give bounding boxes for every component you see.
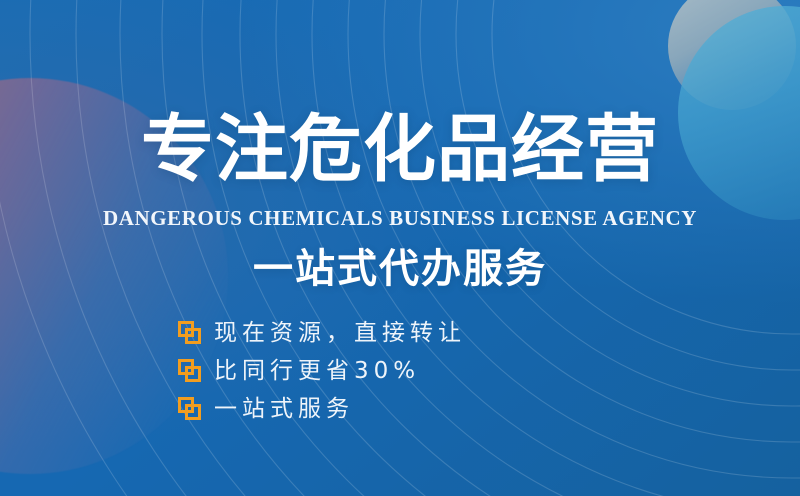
list-item-label: 比同行更省30%: [214, 356, 420, 386]
page-title: 专注危化品经营: [0, 108, 800, 192]
double-square-icon: [178, 359, 202, 383]
subtitle-chinese: 一站式代办服务: [0, 243, 800, 295]
double-square-icon: [178, 397, 202, 421]
subtitle-english: DANGEROUS CHEMICALS BUSINESS LICENSE AGE…: [0, 206, 800, 231]
list-item-label: 一站式服务: [214, 394, 354, 424]
promo-banner: 专注危化品经营 DANGEROUS CHEMICALS BUSINESS LIC…: [0, 0, 800, 496]
banner-content: 专注危化品经营 DANGEROUS CHEMICALS BUSINESS LIC…: [0, 0, 800, 496]
feature-list: 现在资源，直接转让 比同行更省30% 一站式服务: [178, 314, 608, 428]
list-item: 现在资源，直接转让: [178, 314, 608, 352]
double-square-icon: [178, 321, 202, 345]
list-item-label: 现在资源，直接转让: [214, 318, 466, 348]
list-item: 比同行更省30%: [178, 352, 608, 390]
list-item: 一站式服务: [178, 390, 608, 428]
